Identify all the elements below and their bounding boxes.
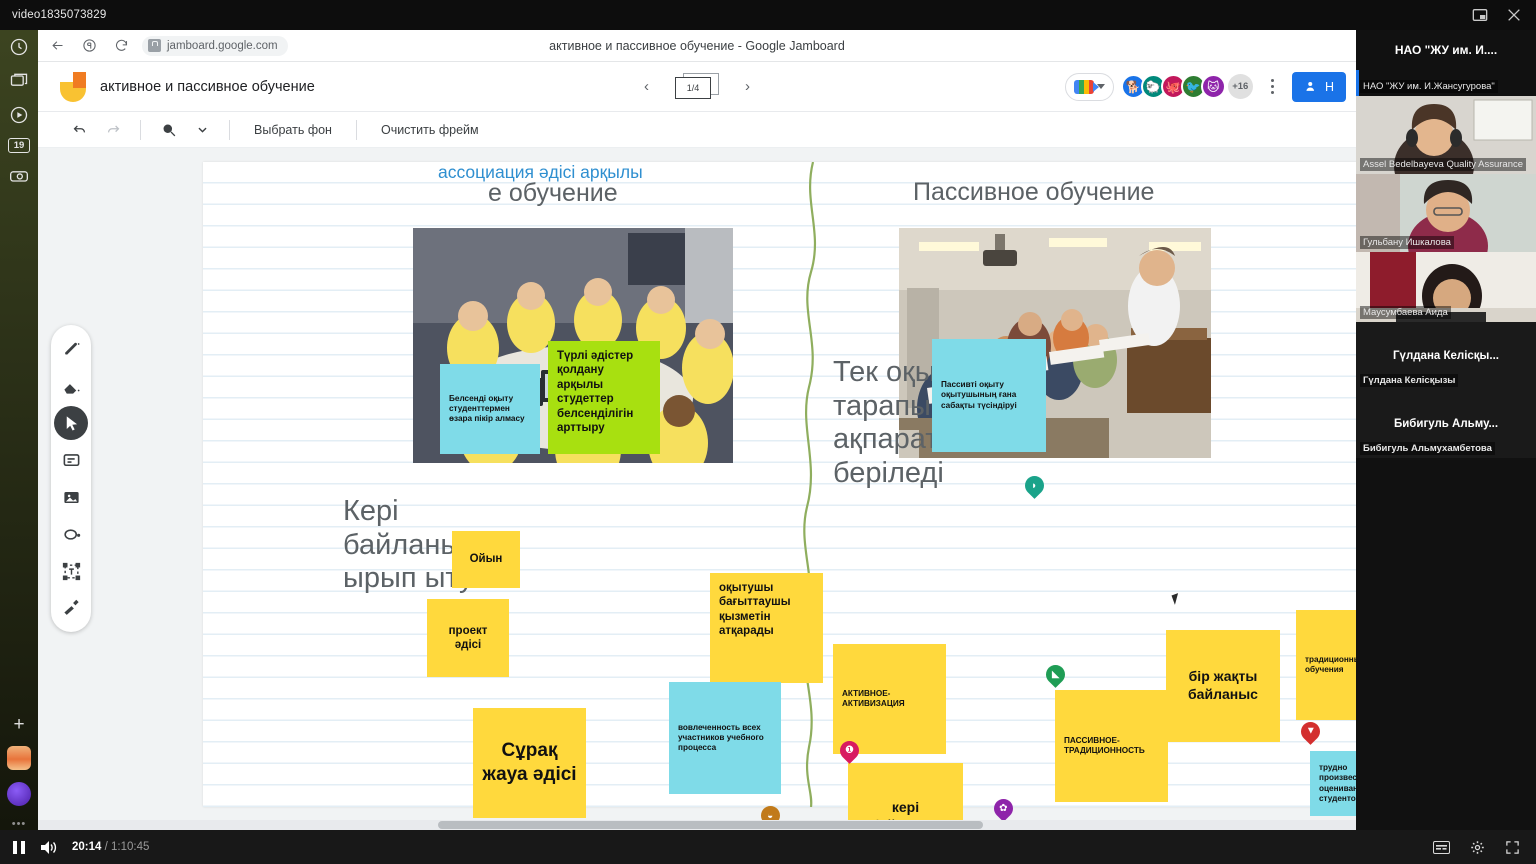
time-separator: /	[105, 841, 108, 853]
video-player-controls: 20:14 / 1:10:45	[0, 830, 1536, 864]
sticky-note-text: бір жақты байланыс	[1175, 668, 1271, 703]
meet-participant-tile[interactable]: Маусумбаева Аида	[1356, 252, 1536, 322]
pen-tool-icon[interactable]	[54, 332, 88, 366]
sticky-note[interactable]: проект әдісі	[427, 599, 509, 677]
sticky-note-text: вовлеченность всех участников учебного п…	[678, 723, 772, 754]
lock-icon	[148, 39, 161, 52]
clear-frame-button[interactable]: Очистить фрейм	[367, 123, 493, 137]
sticky-note-text: Түрлі әдістер қолдану арқылы студеттер б…	[557, 350, 633, 434]
sticky-note[interactable]: АКТИВНОЕ-АКТИВИЗАЦИЯ	[833, 644, 946, 754]
board-heading-left: е обучение	[488, 179, 618, 208]
back-arrow-icon[interactable]	[44, 33, 70, 59]
select-tool-icon[interactable]	[54, 406, 88, 440]
meet-participant-tile[interactable]: Бибигуль Альму...Бибигуль Альмухамбетова	[1356, 390, 1536, 458]
frame-counter: 1/4	[675, 77, 711, 99]
video-title: video1835073829	[12, 9, 106, 21]
windows-icon[interactable]	[8, 70, 30, 92]
volume-icon[interactable]	[40, 840, 58, 855]
meet-tiles-layer: НАО "ЖУ им. И.Жансугурова" Assel Bedelba…	[1356, 70, 1536, 458]
avatar-overflow-count[interactable]: +16	[1228, 74, 1253, 99]
frame-indicator[interactable]: 1/4	[675, 73, 719, 101]
clock-icon[interactable]	[8, 36, 30, 58]
sticky-note[interactable]: Белсенді оқыту студенттермен өзара пікір…	[440, 364, 540, 454]
sticky-note-text: традиционный метод обучения	[1305, 655, 1356, 676]
dock-overflow-icon[interactable]: •••	[12, 818, 27, 830]
sticky-note[interactable]: оқытушы бағыттаушы қызметін атқарады	[710, 573, 823, 683]
next-frame-button[interactable]: ›	[745, 78, 750, 95]
meet-participant-name: Assel Bedelbayeva Quality Assurance	[1360, 158, 1526, 171]
pause-icon[interactable]	[12, 840, 26, 855]
person-add-icon	[1304, 79, 1319, 94]
horizontal-scrollbar[interactable]	[38, 820, 1356, 830]
scrollbar-thumb[interactable]	[438, 821, 983, 829]
image-tool-icon[interactable]	[54, 480, 88, 514]
sticky-note-text: оқытушы бағыттаушы қызметін атқарады	[719, 582, 791, 637]
jamboard-header: активное и пассивное обучение ‹ 1/4 › 🐕 …	[38, 62, 1356, 112]
redo-icon[interactable]	[96, 115, 130, 145]
sticky-note[interactable]: ПАССИВНОЕ-ТРАДИЦИОННОСТЬ	[1055, 690, 1168, 802]
jamboard-canvas-area: ассоциация әдісі арқылы е обучение Пасси…	[38, 148, 1356, 830]
meet-participant-tile[interactable]: НАО "ЖУ им. И.Жансугурова"	[1356, 70, 1536, 96]
sticky-note-text: АКТИВНОЕ-АКТИВИЗАЦИЯ	[842, 689, 937, 710]
calendar-day-badge[interactable]: 19	[8, 138, 30, 153]
close-icon[interactable]	[1506, 7, 1522, 23]
undo-icon[interactable]	[62, 115, 96, 145]
settings-gear-icon[interactable]	[1470, 840, 1485, 855]
laser-pointer-tool-icon[interactable]	[54, 591, 88, 625]
sticky-note[interactable]: бір жақты байланыс	[1166, 630, 1280, 742]
map-pin-icon[interactable]: ◗	[1025, 476, 1045, 502]
url-text: jamboard.google.com	[167, 40, 278, 52]
dock-app-browser-icon[interactable]	[7, 782, 31, 806]
total-time: 1:10:45	[111, 841, 149, 853]
divider-squiggle	[793, 162, 833, 807]
map-pin-icon[interactable]: ❶	[840, 741, 860, 767]
picture-in-picture-icon[interactable]	[1472, 7, 1488, 23]
meet-panel-title: НАО "ЖУ им. И....	[1395, 43, 1497, 57]
shape-tool-icon[interactable]	[54, 517, 88, 551]
sticky-note[interactable]: Пассивті оқыту оқытушының ғана сабақты т…	[932, 339, 1046, 452]
play-icon[interactable]	[8, 104, 30, 126]
text-box-tool-icon[interactable]	[54, 554, 88, 588]
current-time: 20:14	[72, 841, 101, 853]
url-bar[interactable]: jamboard.google.com	[142, 36, 288, 56]
meet-participant-name: Бибигуль Альмухамбетова	[1360, 442, 1495, 455]
eraser-tool-icon[interactable]	[54, 369, 88, 403]
sticky-note[interactable]: традиционный метод обучения	[1296, 610, 1356, 720]
screenshot-icon[interactable]	[8, 165, 30, 187]
meet-participant-tile[interactable]: Assel Bedelbayeva Quality Assurance	[1356, 96, 1536, 174]
map-pin-icon[interactable]: ▼	[1301, 722, 1321, 748]
browser-window: jamboard.google.com активное и пассивное…	[38, 30, 1356, 830]
meet-participant-tile[interactable]: Гульбану Ишкалова	[1356, 174, 1536, 252]
sticky-note-text: Сұрақ жауа әдісі	[482, 739, 577, 787]
meet-tile-title: Бибигуль Альму...	[1394, 418, 1498, 430]
speaking-indicator	[1356, 70, 1359, 96]
add-workspace-icon[interactable]: +	[13, 715, 24, 734]
share-button[interactable]: Н	[1292, 72, 1346, 102]
meet-participant-name: НАО "ЖУ им. И.Жансугурова"	[1360, 80, 1498, 93]
board-heading-right: Пассивное обучение	[913, 178, 1154, 207]
previous-frame-button[interactable]: ‹	[644, 78, 649, 95]
share-button-label: Н	[1325, 80, 1334, 94]
google-meet-panel: НАО "ЖУ им. И.... НАО "ЖУ им. И.Жансугур…	[1356, 30, 1536, 830]
sticky-note-text: ПАССИВНОЕ-ТРАДИЦИОННОСТЬ	[1064, 736, 1159, 757]
screen: video1835073829 19 + •••	[0, 0, 1536, 864]
zoom-icon[interactable]	[151, 115, 185, 145]
sticky-note-text: проект әдісі	[436, 624, 500, 653]
choose-background-button[interactable]: Выбрать фон	[240, 123, 346, 137]
meet-tile-title: Гүлдана Келісқы...	[1393, 350, 1499, 362]
browser-navigation-bar: jamboard.google.com активное и пассивное…	[38, 30, 1356, 62]
sticky-note[interactable]: Түрлі әдістер қолдану арқылы студеттер б…	[548, 341, 660, 454]
meet-participant-name: Гульбану Ишкалова	[1360, 236, 1454, 249]
meet-camera-icon	[1074, 80, 1094, 94]
sticky-note-text: Пассивті оқыту оқытушының ғана сабақты т…	[941, 380, 1037, 411]
sticky-note-text: Белсенді оқыту студенттермен өзара пікір…	[449, 394, 531, 425]
more-options-icon[interactable]	[1265, 79, 1280, 94]
sticky-note[interactable]: вовлеченность всех участников учебного п…	[669, 682, 781, 794]
site-identity-icon[interactable]	[76, 33, 102, 59]
jam-file-name[interactable]: активное и пассивное обучение	[100, 79, 315, 95]
frame-pager: ‹ 1/4 ›	[644, 73, 750, 101]
dock-app-mail-icon[interactable]	[7, 746, 31, 770]
reload-icon[interactable]	[108, 33, 134, 59]
google-meet-button[interactable]	[1065, 73, 1114, 101]
participant-avatars: 🐕 🐑 🐙 🐦 🐱 +16	[1126, 74, 1253, 99]
meet-participant-name: Маусумбаева Аида	[1360, 306, 1451, 319]
jam-board-frame[interactable]: ассоциация әдісі арқылы е обучение Пасси…	[203, 162, 1356, 807]
jamboard-toolbar: Выбрать фон Очистить фрейм	[38, 112, 1356, 148]
captions-icon[interactable]	[1433, 841, 1450, 854]
jamboard-logo-icon	[60, 72, 86, 102]
playback-time: 20:14 / 1:10:45	[72, 841, 149, 853]
tool-palette	[51, 325, 91, 632]
avatar[interactable]: 🐱	[1201, 74, 1226, 99]
os-dock: 19 + •••	[0, 30, 38, 830]
mouse-cursor	[1172, 593, 1182, 605]
sticky-note-text: трудно произвести оценивание студентов	[1319, 763, 1356, 804]
fullscreen-icon[interactable]	[1505, 840, 1520, 855]
video-player-topbar: video1835073829	[0, 0, 1536, 30]
meet-participant-tile[interactable]: Гүлдана Келісқы...Гүлдана Келісқызы	[1356, 322, 1536, 390]
sticky-note-text: Ойын	[470, 552, 503, 566]
sticky-note-tool-icon[interactable]	[54, 443, 88, 477]
zoom-dropdown-icon[interactable]	[185, 115, 219, 145]
sticky-note[interactable]: Ойын	[452, 531, 520, 588]
sticky-note[interactable]: трудно произвести оценивание студентов	[1310, 751, 1356, 816]
map-pin-icon[interactable]: ◣	[1046, 665, 1066, 691]
sticky-note[interactable]: Сұрақ жауа әдісі	[473, 708, 586, 818]
meet-participant-name: Гүлдана Келісқызы	[1360, 374, 1458, 387]
